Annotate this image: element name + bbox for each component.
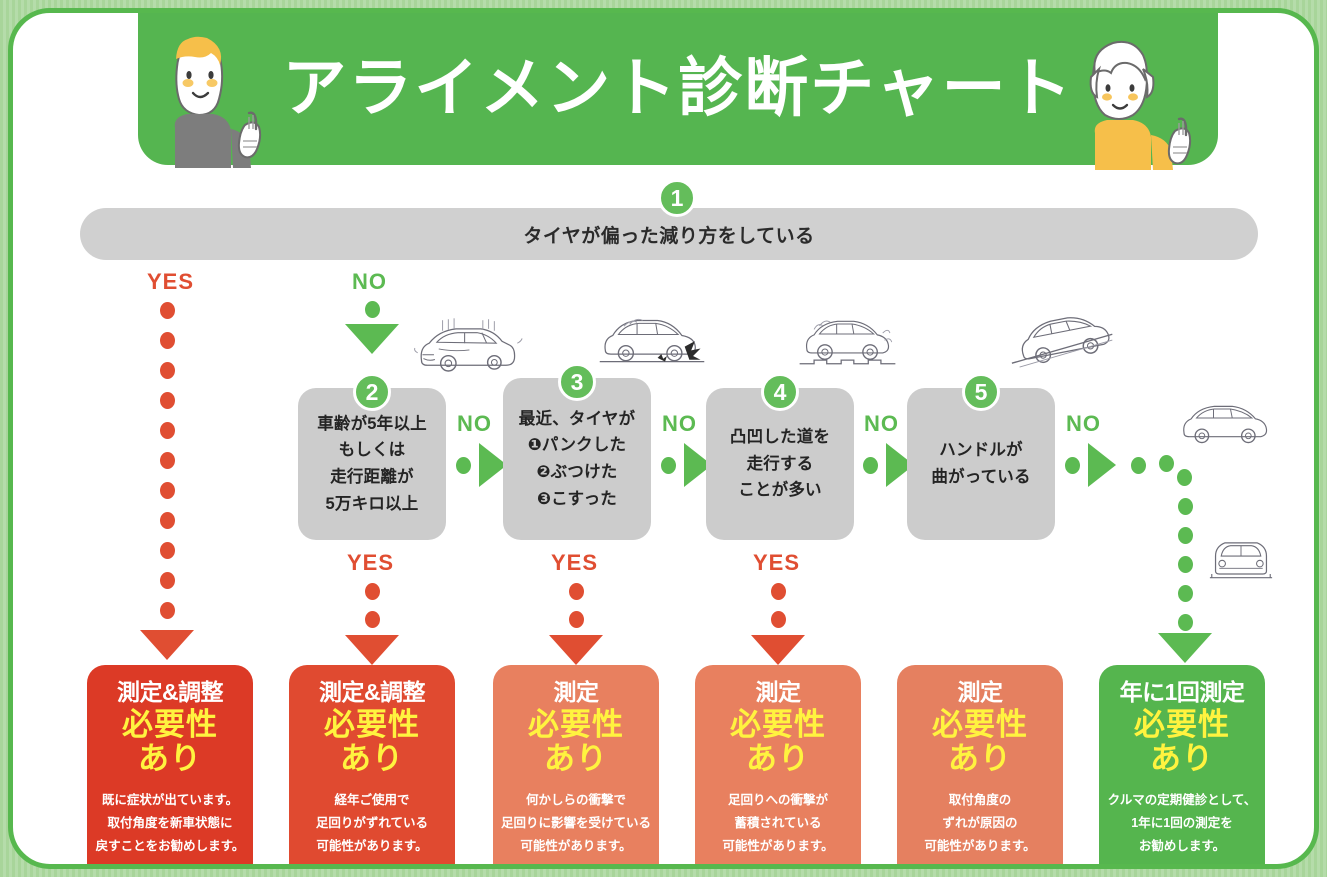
result-3-desc: 何かしらの衝撃で 足回りに影響を受けている 可能性があります。 (493, 789, 659, 858)
q1-no-arrow (345, 324, 399, 354)
page-title: アライメント診断チャート (138, 37, 1218, 129)
q1-no-label: NO (352, 269, 387, 295)
question-1-badge: 1 (658, 179, 696, 217)
q5-no-label: NO (1066, 411, 1101, 437)
result-4-head: 測定 (695, 679, 861, 706)
q3-no-dot (661, 457, 676, 474)
result-5-head: 測定 (897, 679, 1063, 706)
question-1-box[interactable]: タイヤが偏った減り方をしている (80, 208, 1258, 260)
result-6-main: 必要性 あり (1099, 708, 1265, 775)
question-1-text: タイヤが偏った減り方をしている (523, 221, 814, 248)
question-3-badge: 3 (558, 363, 596, 401)
q1-yes-dot (160, 392, 175, 409)
result-2-head: 測定&調整 (289, 679, 455, 706)
q2-yes-arrow (345, 635, 399, 665)
car-impact-illustration (596, 313, 708, 371)
chart-canvas: アライメント診断チャート (0, 0, 1327, 877)
q5-no-path-dot (1177, 469, 1192, 486)
q1-yes-dot (160, 422, 175, 439)
q2-yes-dot (365, 583, 380, 600)
q1-yes-dot (160, 602, 175, 619)
q3-no-label: NO (662, 411, 697, 437)
q3-yes-dot (569, 611, 584, 628)
q4-yes-dot (771, 583, 786, 600)
result-box-5[interactable]: 測定 必要性 あり 取付角度の ずれが原因の 可能性があります。 (897, 665, 1063, 869)
question-3-text: 最近、タイヤが ❶パンクした ❷ぶつけた ❸こすった (519, 406, 635, 513)
result-6-head: 年に1回測定 (1099, 679, 1265, 706)
q1-yes-dot (160, 482, 175, 499)
car-front-quarter-illustration (410, 318, 525, 378)
q2-yes-dot (365, 611, 380, 628)
q5-no-dot (1065, 457, 1080, 474)
q4-no-dot (863, 457, 878, 474)
car-front-view-illustration (1208, 533, 1274, 581)
q4-yes-label: YES (753, 550, 800, 576)
question-2-badge: 2 (353, 373, 391, 411)
car-front-angle-illustration (1176, 401, 1276, 451)
q1-yes-dot (160, 302, 175, 319)
result-4-desc: 足回りへの衝撃が 蓄積されている 可能性があります。 (695, 789, 861, 858)
q1-yes-dot (160, 362, 175, 379)
car-bumpy-road-illustration (795, 315, 900, 371)
result-4-main: 必要性 あり (695, 708, 861, 775)
q5-no-path-dot (1178, 585, 1193, 602)
result-3-head: 測定 (493, 679, 659, 706)
result-2-main: 必要性 あり (289, 708, 455, 775)
question-5-badge: 5 (962, 373, 1000, 411)
question-4-badge: 4 (761, 373, 799, 411)
q5-no-path-dot (1178, 527, 1193, 544)
q2-yes-label: YES (347, 550, 394, 576)
man-pointing-illustration (161, 33, 269, 168)
q3-yes-label: YES (551, 550, 598, 576)
result-1-main: 必要性 あり (87, 708, 253, 775)
title-banner: アライメント診断チャート (138, 13, 1218, 165)
result-2-desc: 経年ご使用で 足回りがずれている 可能性があります。 (289, 789, 455, 858)
q5-no-path-dot (1178, 498, 1193, 515)
result-5-main: 必要性 あり (897, 708, 1063, 775)
q1-yes-label: YES (147, 269, 194, 295)
q1-yes-dot (160, 452, 175, 469)
result-box-3[interactable]: 測定 必要性 あり 何かしらの衝撃で 足回りに影響を受けている 可能性があります… (493, 665, 659, 869)
q1-no-dot (365, 301, 380, 318)
q2-no-label: NO (457, 411, 492, 437)
result-box-6[interactable]: 年に1回測定 必要性 あり クルマの定期健診として、 1年に1回の測定を お勧め… (1099, 665, 1265, 869)
q4-no-label: NO (864, 411, 899, 437)
result-box-1[interactable]: 測定&調整 必要性 あり 既に症状が出ています。 取付角度を新車状態に 戻すこと… (87, 665, 253, 869)
question-5-text: ハンドルが 曲がっている (931, 437, 1030, 490)
q5-no-arrow (1088, 443, 1116, 487)
q1-yes-arrow (140, 630, 194, 660)
q5-no-path-dot (1159, 455, 1174, 472)
q1-yes-dot (160, 542, 175, 559)
q2-no-dot (456, 457, 471, 474)
result-1-head: 測定&調整 (87, 679, 253, 706)
q4-yes-dot (771, 611, 786, 628)
question-4-text: 凸凹した道を 走行する ことが多い (730, 424, 830, 504)
q1-yes-dot (160, 332, 175, 349)
result-box-2[interactable]: 測定&調整 必要性 あり 経年ご使用で 足回りがずれている 可能性があります。 (289, 665, 455, 869)
q5-no-final-arrow (1158, 633, 1212, 663)
car-on-slope-illustration (1011, 313, 1119, 369)
q1-yes-dot (160, 512, 175, 529)
q4-yes-arrow (751, 635, 805, 665)
q3-yes-dot (569, 583, 584, 600)
result-3-main: 必要性 あり (493, 708, 659, 775)
question-3-box[interactable]: 最近、タイヤが ❶パンクした ❷ぶつけた ❸こすった (503, 378, 651, 540)
question-2-text: 車齢が5年以上 もしくは 走行距離が 5万キロ以上 (317, 411, 427, 518)
result-1-desc: 既に症状が出ています。 取付角度を新車状態に 戻すことをお勧めします。 (87, 789, 253, 858)
result-6-desc: クルマの定期健診として、 1年に1回の測定を お勧めします。 (1099, 789, 1265, 858)
q5-no-path-dot (1131, 457, 1146, 474)
q1-yes-dot (160, 572, 175, 589)
woman-pointing-illustration (1071, 35, 1211, 170)
result-box-4[interactable]: 測定 必要性 あり 足回りへの衝撃が 蓄積されている 可能性があります。 (695, 665, 861, 869)
chart-card: アライメント診断チャート (8, 8, 1319, 869)
result-5-desc: 取付角度の ずれが原因の 可能性があります。 (897, 789, 1063, 858)
q5-no-path-dot (1178, 556, 1193, 573)
q5-no-path-dot (1178, 614, 1193, 631)
q3-yes-arrow (549, 635, 603, 665)
